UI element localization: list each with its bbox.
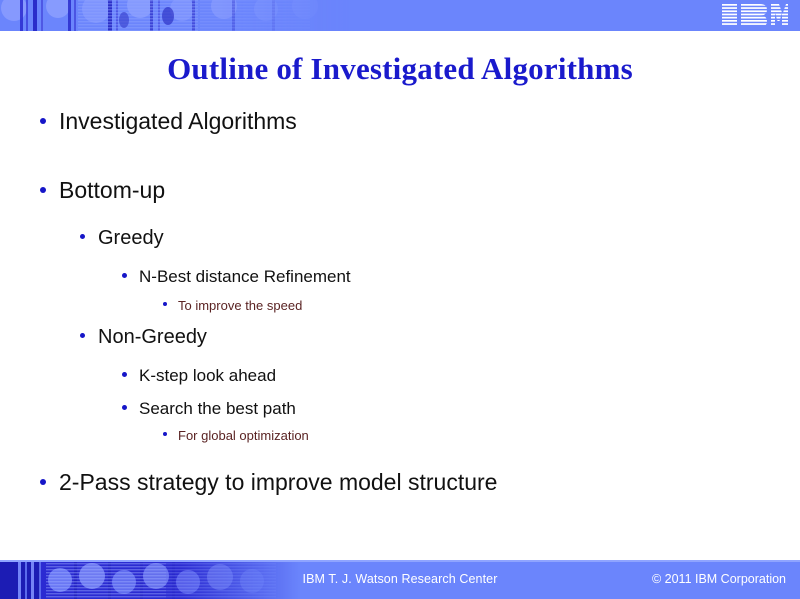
list-item: Greedy: [80, 227, 164, 250]
list-item-label: Non-Greedy: [98, 326, 207, 349]
bullet-dot-icon: [40, 187, 46, 193]
bullet-dot-icon: [163, 302, 167, 306]
list-item-label: Bottom-up: [59, 177, 165, 204]
outline-list: Investigated Algorithms Bottom-up Greedy…: [0, 108, 800, 548]
ibm-logo-icon: [722, 4, 788, 27]
list-item: 2-Pass strategy to improve model structu…: [40, 469, 497, 496]
bullet-dot-icon: [80, 333, 85, 338]
list-item-label: Greedy: [98, 227, 164, 250]
list-item-label: Investigated Algorithms: [59, 108, 297, 135]
header-pattern-graphic: [0, 0, 350, 31]
header-decorative-pattern: [0, 0, 350, 31]
bullet-dot-icon: [40, 479, 46, 485]
list-item-label: 2-Pass strategy to improve model structu…: [59, 469, 497, 496]
list-item-label: For global optimization: [178, 428, 309, 443]
list-item-label: K-step look ahead: [139, 366, 276, 386]
footer-banner: IBM T. J. Watson Research Center © 2011 …: [0, 560, 800, 599]
page-title: Outline of Investigated Algorithms: [0, 51, 800, 87]
list-item: Investigated Algorithms: [40, 108, 297, 135]
list-item: N-Best distance Refinement: [122, 267, 351, 287]
ibm-logo: [722, 4, 788, 27]
bullet-dot-icon: [163, 432, 167, 436]
list-item: Non-Greedy: [80, 326, 207, 349]
list-item: To improve the speed: [163, 298, 302, 313]
bullet-dot-icon: [122, 372, 127, 377]
list-item-label: N-Best distance Refinement: [139, 267, 351, 287]
list-item: Search the best path: [122, 399, 296, 419]
list-item: K-step look ahead: [122, 366, 276, 386]
bullet-dot-icon: [80, 234, 85, 239]
list-item-label: To improve the speed: [178, 298, 302, 313]
footer-copyright: © 2011 IBM Corporation: [652, 560, 786, 599]
list-item: For global optimization: [163, 428, 309, 443]
bullet-dot-icon: [122, 273, 127, 278]
presentation-slide: Outline of Investigated Algorithms Inves…: [0, 0, 800, 599]
list-item-label: Search the best path: [139, 399, 296, 419]
bullet-dot-icon: [122, 405, 127, 410]
list-item: Bottom-up: [40, 177, 165, 204]
header-banner: [0, 0, 800, 31]
bullet-dot-icon: [40, 118, 46, 124]
